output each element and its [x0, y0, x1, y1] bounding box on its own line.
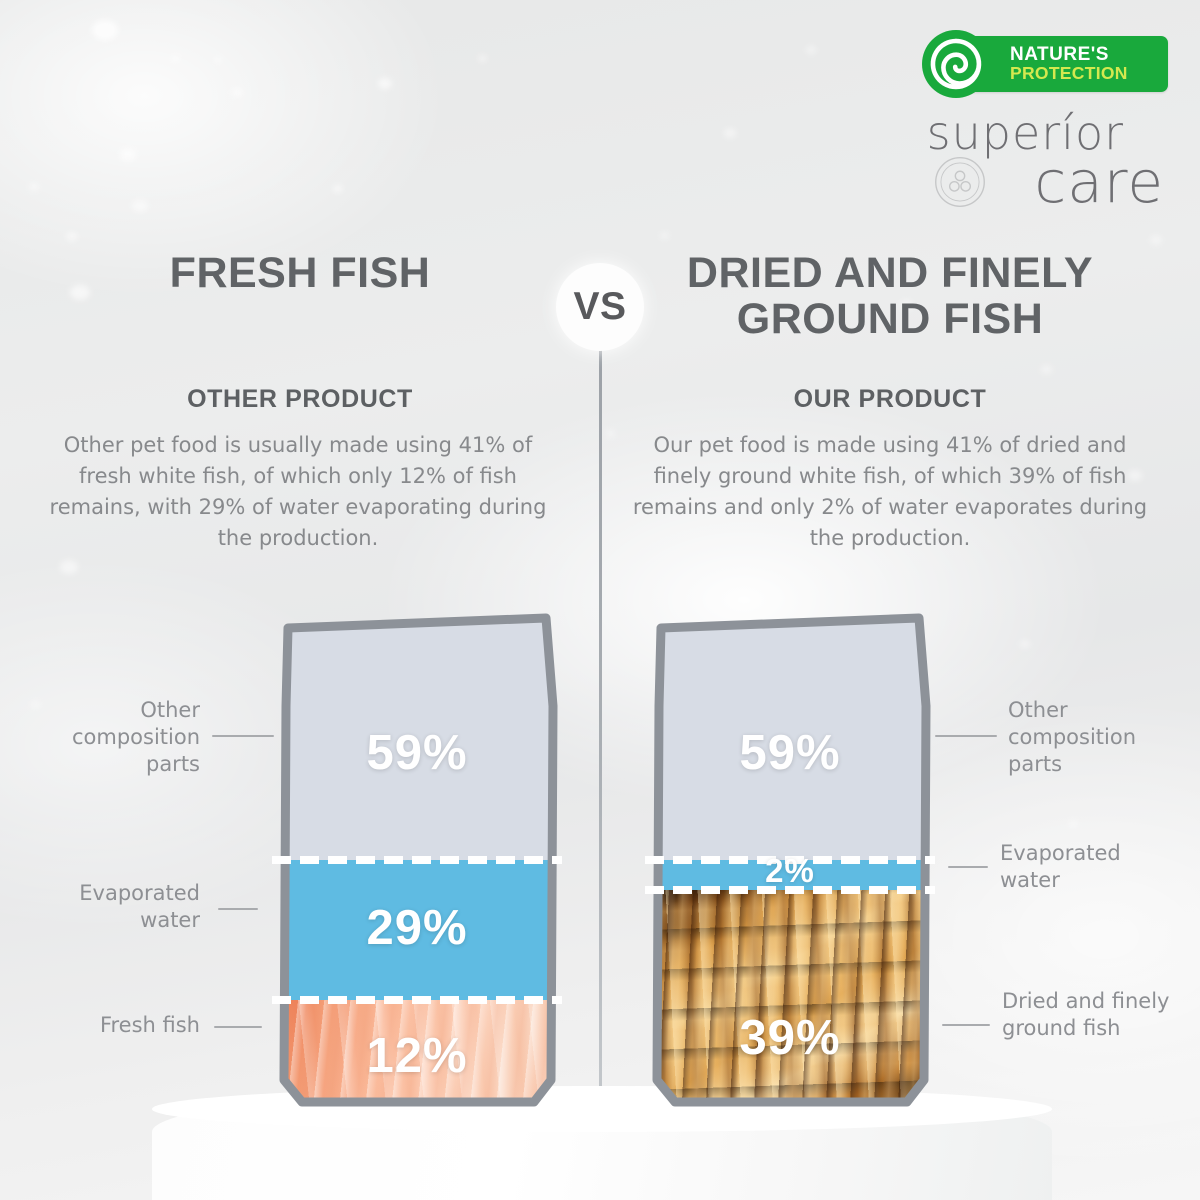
vs-badge: VS: [556, 263, 644, 351]
left-pct-other: 59%: [272, 725, 562, 781]
left-product-bag: 59% 29% 12%: [272, 610, 562, 1110]
certification-seal-icon: [934, 156, 986, 208]
bokeh-particle: [171, 55, 180, 62]
right-pct-other: 59%: [645, 725, 935, 781]
right-title: DRIED AND FINELY GROUND FISH: [640, 250, 1140, 343]
natures-protection-badge: NATURE'S PROTECTION: [956, 36, 1168, 92]
bokeh-particle: [214, 57, 222, 63]
right-product-bag: 59% 2% 39%: [645, 610, 935, 1110]
bokeh-particle: [132, 200, 148, 212]
care-text: care: [1034, 148, 1164, 216]
right-leader-other-composition: [935, 735, 997, 737]
vs-divider-line: [599, 310, 602, 1092]
bokeh-particle: [378, 78, 392, 89]
spiral-swirl-icon: [922, 30, 990, 98]
vs-label: VS: [573, 285, 626, 329]
left-leader-fresh-fish: [214, 1026, 262, 1028]
right-leader-dried-fish: [942, 1024, 990, 1026]
bokeh-particle: [1020, 640, 1030, 648]
bokeh-particle: [92, 20, 118, 40]
left-leader-evaporated-water: [218, 908, 258, 910]
left-label-evaporated-water: Evaporated water: [20, 880, 200, 934]
bokeh-particle: [333, 185, 343, 193]
bokeh-particle: [29, 183, 39, 191]
right-label-evaporated-water: Evaporated water: [1000, 840, 1178, 894]
left-title: FRESH FISH: [60, 250, 540, 296]
right-label-other-composition: Other composition parts: [1008, 697, 1186, 778]
left-pct-water: 29%: [272, 900, 562, 956]
right-subtitle: OUR PRODUCT: [640, 385, 1140, 414]
left-label-other-composition: Other composition parts: [20, 697, 200, 778]
bokeh-particle: [724, 128, 736, 138]
brand-name-line2: PROTECTION: [1010, 65, 1128, 83]
brand-name-text: NATURE'S PROTECTION: [1010, 45, 1128, 82]
bokeh-particle: [478, 55, 487, 62]
brand-logo-block: NATURE'S PROTECTION superíor care: [918, 36, 1168, 214]
left-dash-separator-water-top: [272, 856, 562, 864]
right-pct-fish: 39%: [645, 1010, 935, 1066]
bokeh-particle: [60, 560, 78, 574]
bokeh-particle: [660, 232, 669, 239]
left-pct-fish: 12%: [272, 1028, 562, 1084]
left-description: Other pet food is usually made using 41%…: [48, 430, 548, 554]
bokeh-particle: [1150, 235, 1162, 245]
right-description: Our pet food is made using 41% of dried …: [630, 430, 1150, 554]
right-label-dried-fish: Dried and finely ground fish: [1002, 988, 1182, 1042]
superior-care-wordmark: superíor care: [918, 106, 1168, 214]
bokeh-particle: [120, 148, 136, 161]
bokeh-particle: [806, 46, 816, 54]
infographic-stage: NATURE'S PROTECTION superíor care FRESH …: [0, 0, 1200, 1200]
right-leader-evaporated-water: [948, 866, 988, 868]
right-pct-water: 2%: [645, 852, 935, 890]
bokeh-particle: [232, 88, 243, 97]
brand-name-line1: NATURE'S: [1010, 45, 1128, 64]
left-dash-separator-fish-top: [272, 996, 562, 1004]
bokeh-particle: [606, 430, 615, 437]
bokeh-particle: [66, 232, 78, 241]
left-label-fresh-fish: Fresh fish: [20, 1012, 200, 1039]
left-leader-other-composition: [212, 735, 274, 737]
bokeh-particle: [1068, 820, 1078, 828]
bokeh-particle: [1041, 365, 1052, 374]
left-subtitle: OTHER PRODUCT: [60, 385, 540, 414]
